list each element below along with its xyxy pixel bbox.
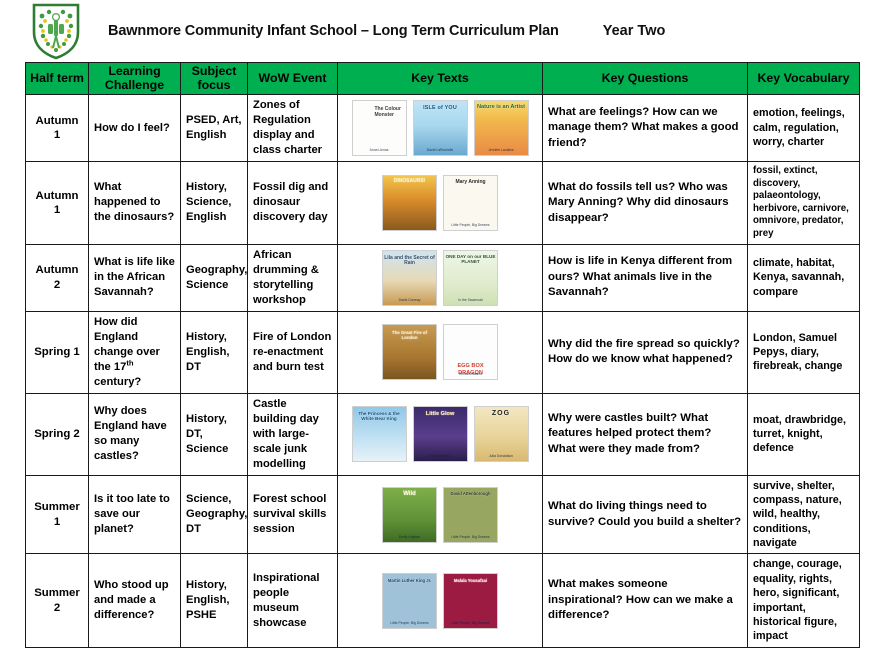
page-title: Bawnmore Community Infant School – Long … xyxy=(108,23,559,39)
book-cover: Little GlowKatie Sahota xyxy=(413,406,468,462)
book-cover: ONE DAY on our BLUE PLANETIn the Savanna… xyxy=(443,250,498,306)
cell-key-vocabulary: climate, habitat, Kenya, savannah, compa… xyxy=(748,244,860,311)
ordinal-suffix: th xyxy=(126,358,133,367)
cell-key-texts: WildEmily HughesDavid AttenboroughLittle… xyxy=(338,475,543,554)
book-cover-list: The Princess & the White Bear KingLittle… xyxy=(343,406,537,462)
cell-half-term: Summer 2 xyxy=(26,554,89,647)
cell-subject-focus: History, English, PSHE xyxy=(181,554,248,647)
book-cover-list: Martin Luther King Jr.Little People, Big… xyxy=(343,573,537,629)
book-cover-list: Lila and the Secret of RainDavid ConwayO… xyxy=(343,250,537,306)
book-cover: WildEmily Hughes xyxy=(382,487,437,543)
book-author: Katie Sahota xyxy=(415,455,466,459)
table-row: Autumn 2What is life like in the African… xyxy=(26,244,860,311)
table-row: Autumn 1What happened to the dinosaurs?H… xyxy=(26,162,860,245)
book-title: The Colour Monster xyxy=(375,107,404,119)
book-cover-list: WildEmily HughesDavid AttenboroughLittle… xyxy=(343,487,537,543)
col-key-questions: Key Questions xyxy=(543,63,748,95)
book-title: Malala Yousafzai xyxy=(445,579,496,584)
book-author: David Conway xyxy=(384,299,435,303)
book-title: Little Glow xyxy=(415,411,466,417)
cell-wow-event: Fire of London re-enactment and burn tes… xyxy=(248,311,338,393)
curriculum-plan-table: Half term Learning Challenge Subject foc… xyxy=(25,62,860,648)
book-cover: ZOGJulia Donaldson xyxy=(474,406,529,462)
cell-key-questions: How is life in Kenya different from ours… xyxy=(543,244,748,311)
book-author: Richard Adams xyxy=(445,373,496,377)
cell-subject-focus: History, English, DT xyxy=(181,311,248,393)
book-author: David LaRochelle xyxy=(415,149,466,153)
cell-wow-event: Zones of Regulation display and class ch… xyxy=(248,95,338,162)
cell-key-vocabulary: emotion, feelings, calm, regulation, wor… xyxy=(748,95,860,162)
cell-learning-challenge: Who stood up and made a difference? xyxy=(89,554,181,647)
book-cover: The Princess & the White Bear King xyxy=(352,406,407,462)
cell-wow-event: Fossil dig and dinosaur discovery day xyxy=(248,162,338,245)
cell-wow-event: Castle building day with large-scale jun… xyxy=(248,393,338,475)
cell-half-term: Autumn 1 xyxy=(26,95,89,162)
col-subject-focus: Subject focus xyxy=(181,63,248,95)
cell-subject-focus: Science, Geography, DT xyxy=(181,475,248,554)
cell-half-term: Summer 1 xyxy=(26,475,89,554)
cell-wow-event: Forest school survival skills session xyxy=(248,475,338,554)
cell-learning-challenge: What happened to the dinosaurs? xyxy=(89,162,181,245)
cell-learning-challenge: What is life like in the African Savanna… xyxy=(89,244,181,311)
book-title: ONE DAY on our BLUE PLANET xyxy=(445,254,496,265)
cell-key-texts: The Colour MonsterAnna LlenasISLE of YOU… xyxy=(338,95,543,162)
cell-key-questions: Why did the fire spread so quickly? How … xyxy=(543,311,748,393)
table-header-row: Half term Learning Challenge Subject foc… xyxy=(26,63,860,95)
book-author: Little People, Big Dreams xyxy=(445,622,496,626)
book-title: Nature is an Artist xyxy=(476,104,527,110)
book-cover: David AttenboroughLittle People, Big Dre… xyxy=(443,487,498,543)
book-cover: Malala YousafzaiLittle People, Big Dream… xyxy=(443,573,498,629)
book-cover: EGG BOX DRAGONRichard Adams xyxy=(443,324,498,380)
col-key-vocabulary: Key Vocabulary xyxy=(748,63,860,95)
book-title: David Attenborough xyxy=(445,492,496,497)
table-row: Spring 2Why does England have so many ca… xyxy=(26,393,860,475)
cell-subject-focus: Geography, Science xyxy=(181,244,248,311)
cell-subject-focus: History, Science, English xyxy=(181,162,248,245)
book-title: The Great Fire of London xyxy=(384,330,435,340)
book-author: Jennifer Lavallee xyxy=(476,149,527,153)
col-key-texts: Key Texts xyxy=(338,63,543,95)
book-author: Little People, Big Dreams xyxy=(384,622,435,626)
cell-key-texts: The Great Fire of LondonEGG BOX DRAGONRi… xyxy=(338,311,543,393)
book-cover: The Colour MonsterAnna Llenas xyxy=(352,100,407,156)
book-cover: Nature is an ArtistJennifer Lavallee xyxy=(474,100,529,156)
cell-learning-challenge: How do I feel? xyxy=(89,95,181,162)
cell-key-vocabulary: survive, shelter, compass, nature, wild,… xyxy=(748,475,860,554)
book-cover: ISLE of YOUDavid LaRochelle xyxy=(413,100,468,156)
book-title: DINOSAURS! xyxy=(384,179,435,185)
book-cover-list: The Colour MonsterAnna LlenasISLE of YOU… xyxy=(343,100,537,156)
cell-learning-challenge: Why does England have so many castles? xyxy=(89,393,181,475)
book-author: Emily Hughes xyxy=(384,536,435,540)
cell-learning-challenge: How did England change over the 17th cen… xyxy=(89,311,181,393)
curriculum-plan-page: Bawnmore Community Infant School – Long … xyxy=(0,0,884,576)
cell-half-term: Autumn 2 xyxy=(26,244,89,311)
book-cover: Martin Luther King Jr.Little People, Big… xyxy=(382,573,437,629)
cell-half-term: Autumn 1 xyxy=(26,162,89,245)
book-title: Mary Anning xyxy=(445,180,496,186)
book-title: Lila and the Secret of Rain xyxy=(384,256,435,268)
cell-key-questions: What do fossils tell us? Who was Mary An… xyxy=(543,162,748,245)
book-cover: Mary AnningLittle People, Big Dreams xyxy=(443,175,498,231)
cell-key-vocabulary: moat, drawbridge, turret, knight, defenc… xyxy=(748,393,860,475)
cell-key-questions: What do living things need to survive? C… xyxy=(543,475,748,554)
col-learning-challenge: Learning Challenge xyxy=(89,63,181,95)
cell-subject-focus: PSED, Art, English xyxy=(181,95,248,162)
book-author: Julia Donaldson xyxy=(476,455,527,459)
cell-key-questions: What are feelings? How can we manage the… xyxy=(543,95,748,162)
cell-subject-focus: History, DT, Science xyxy=(181,393,248,475)
book-title: ZOG xyxy=(476,410,527,418)
book-cover-list: DINOSAURS!Mary AnningLittle People, Big … xyxy=(343,175,537,231)
learning-challenge-text-post: century? xyxy=(94,376,141,388)
document-header: Bawnmore Community Infant School – Long … xyxy=(0,0,884,62)
cell-half-term: Spring 1 xyxy=(26,311,89,393)
cell-key-vocabulary: change, courage, equality, rights, hero,… xyxy=(748,554,860,647)
book-cover: Lila and the Secret of RainDavid Conway xyxy=(382,250,437,306)
book-author: Anna Llenas xyxy=(354,149,405,153)
col-wow-event: WoW Event xyxy=(248,63,338,95)
book-cover-list: The Great Fire of LondonEGG BOX DRAGONRi… xyxy=(343,324,537,380)
book-title: Martin Luther King Jr. xyxy=(384,579,435,584)
cell-key-texts: The Princess & the White Bear KingLittle… xyxy=(338,393,543,475)
table-row: Summer 2Who stood up and made a differen… xyxy=(26,554,860,647)
cell-key-texts: Martin Luther King Jr.Little People, Big… xyxy=(338,554,543,647)
book-cover: DINOSAURS! xyxy=(382,175,437,231)
book-author: Little People, Big Dreams xyxy=(445,224,496,228)
year-group-label: Year Two xyxy=(603,23,666,39)
school-crest-icon xyxy=(30,2,82,60)
cell-key-questions: Why were castles built? What features he… xyxy=(543,393,748,475)
cell-key-vocabulary: London, Samuel Pepys, diary, firebreak, … xyxy=(748,311,860,393)
cell-key-questions: What makes someone inspirational? How ca… xyxy=(543,554,748,647)
col-half-term: Half term xyxy=(26,63,89,95)
table-row: Autumn 1How do I feel?PSED, Art, English… xyxy=(26,95,860,162)
book-author: Little People, Big Dreams xyxy=(445,536,496,540)
cell-key-texts: Lila and the Secret of RainDavid ConwayO… xyxy=(338,244,543,311)
cell-wow-event: African drumming & storytelling workshop xyxy=(248,244,338,311)
book-cover: The Great Fire of London xyxy=(382,324,437,380)
cell-half-term: Spring 2 xyxy=(26,393,89,475)
book-title: The Princess & the White Bear King xyxy=(354,411,405,422)
book-title: Wild xyxy=(384,491,435,498)
book-author: In the Savannah xyxy=(445,299,496,303)
cell-key-vocabulary: fossil, extinct, discovery, palaeontolog… xyxy=(748,162,860,245)
cell-learning-challenge: Is it too late to save our planet? xyxy=(89,475,181,554)
cell-wow-event: Inspirational people museum showcase xyxy=(248,554,338,647)
table-row: Spring 1How did England change over the … xyxy=(26,311,860,393)
cell-key-texts: DINOSAURS!Mary AnningLittle People, Big … xyxy=(338,162,543,245)
book-title: ISLE of YOU xyxy=(415,105,466,111)
table-row: Summer 1Is it too late to save our plane… xyxy=(26,475,860,554)
